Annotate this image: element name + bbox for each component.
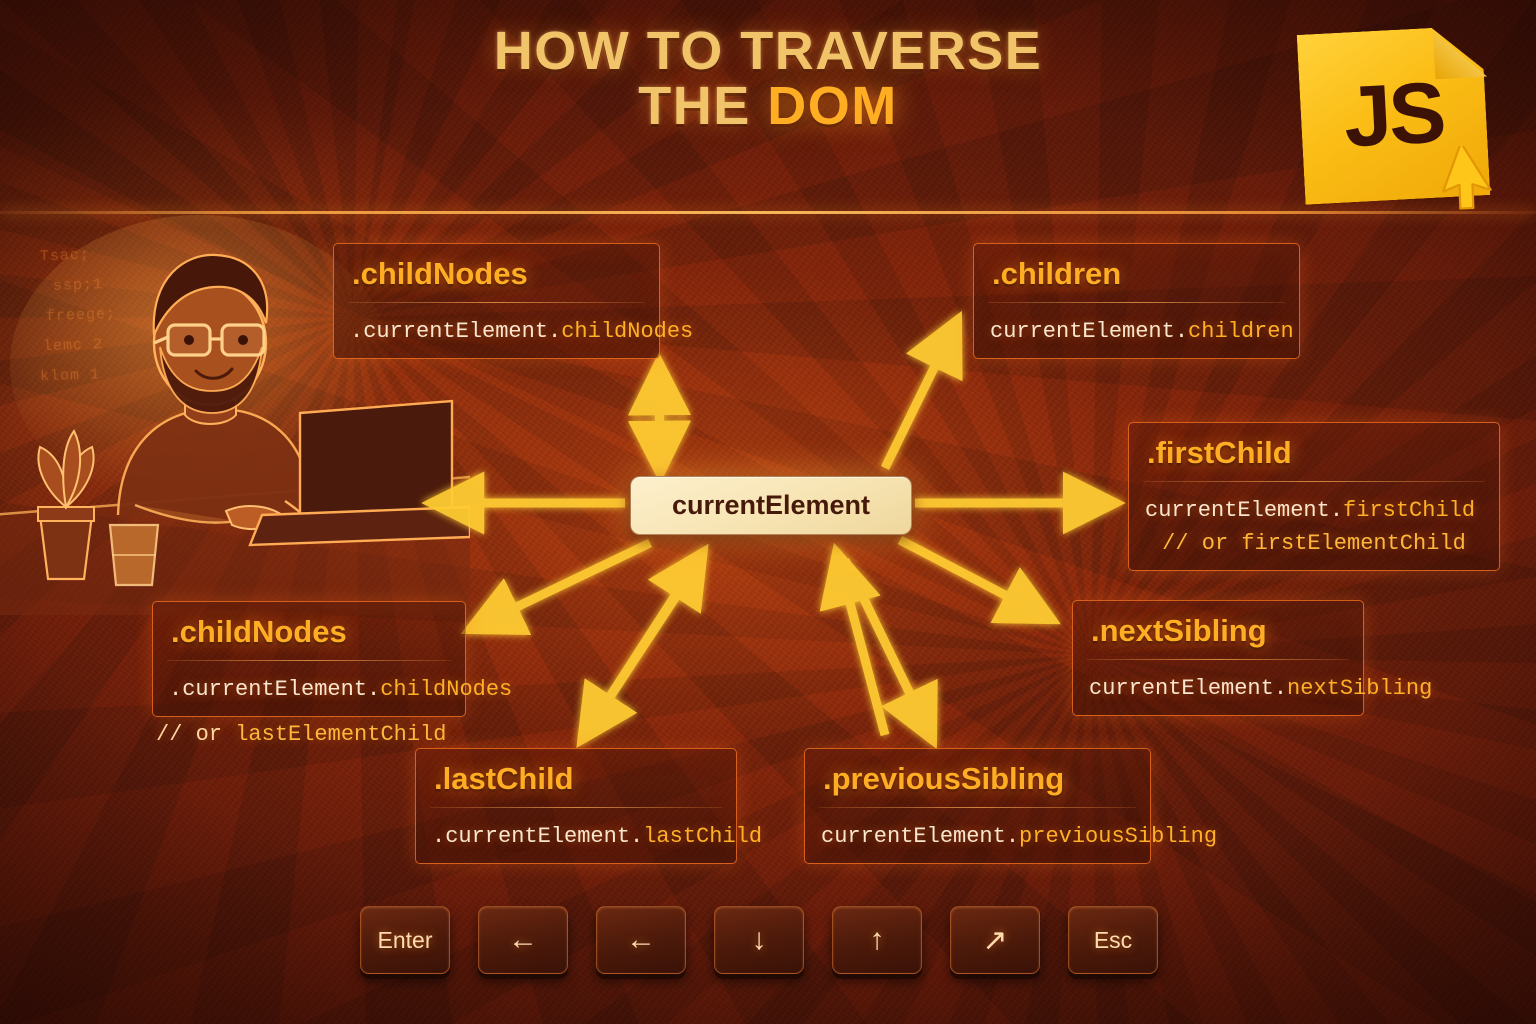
code-prefix: .currentElement. xyxy=(169,677,380,702)
box-title: .childNodes xyxy=(334,244,659,302)
key-arrow-down[interactable]: ↓ xyxy=(714,906,804,974)
info-box-childnodes-bottom: .childNodes .currentElement.childNodes xyxy=(152,601,466,717)
code-property: childNodes xyxy=(380,677,512,702)
arrow-to-children xyxy=(885,325,955,468)
box-code: .currentElement.lastChild xyxy=(416,808,736,863)
box-code: currentElement.firstChild xyxy=(1129,482,1499,531)
info-box-firstchild: .firstChild currentElement.firstChild //… xyxy=(1128,422,1500,571)
box-code: .currentElement.childNodes xyxy=(153,661,465,716)
box-title: .lastChild xyxy=(416,749,736,807)
box-title: .childNodes xyxy=(153,602,465,660)
note-lastelementchild: // or lastElementChild xyxy=(156,722,446,747)
key-arrow-left-2[interactable]: ← xyxy=(596,906,686,974)
info-box-nextsibling: .nextSibling currentElement.nextSibling xyxy=(1072,600,1364,716)
code-prefix: currentElement. xyxy=(990,319,1188,344)
arrow-from-childnodes-top xyxy=(659,370,660,468)
code-property: firstChild xyxy=(1343,498,1475,523)
info-box-childnodes-top: .childNodes .currentElement.childNodes xyxy=(333,243,660,359)
code-prefix: currentElement. xyxy=(1089,676,1287,701)
box-title: .nextSibling xyxy=(1073,601,1363,659)
code-property: childNodes xyxy=(561,319,693,344)
box-title: .firstChild xyxy=(1129,423,1499,481)
info-box-children: .children currentElement.children xyxy=(973,243,1300,359)
code-property: lastChild xyxy=(643,824,762,849)
info-box-previoussibling: .previousSibling currentElement.previous… xyxy=(804,748,1151,864)
code-property: nextSibling xyxy=(1287,676,1432,701)
center-node-currentelement: currentElement xyxy=(630,476,912,535)
infographic-canvas: HOW TO TRAVERSE THE DOM JS xyxy=(0,0,1536,1024)
arrow-to-childnodes-bottom xyxy=(475,543,650,627)
keyboard-keys: Enter ← ← ↓ ↑ ↗ Esc xyxy=(360,906,1160,980)
code-prefix: .currentElement. xyxy=(350,319,561,344)
key-arrow-up[interactable]: ↑ xyxy=(832,906,922,974)
arrow-to-nextsibling xyxy=(900,540,1047,617)
box-code: currentElement.nextSibling xyxy=(1073,660,1363,715)
box-title: .children xyxy=(974,244,1299,302)
arrow-to-lastchild xyxy=(585,560,700,735)
box-code: currentElement.previousSibling xyxy=(805,808,1150,863)
code-prefix: currentElement. xyxy=(1145,498,1343,523)
box-title: .previousSibling xyxy=(805,749,1150,807)
box-code: currentElement.children xyxy=(974,303,1299,358)
code-property: previousSibling xyxy=(1019,824,1217,849)
key-enter[interactable]: Enter xyxy=(360,906,450,974)
box-code-alt: // or firstElementChild xyxy=(1129,531,1499,570)
info-box-lastchild: .lastChild .currentElement.lastChild xyxy=(415,748,737,864)
code-prefix: currentElement. xyxy=(821,824,1019,849)
note-value: lastElementChild xyxy=(235,722,446,747)
code-prefix: .currentElement. xyxy=(432,824,643,849)
box-code: .currentElement.childNodes xyxy=(334,303,659,358)
note-comment-slashes: // or xyxy=(156,722,235,747)
key-esc[interactable]: Esc xyxy=(1068,906,1158,974)
key-arrow-left-1[interactable]: ← xyxy=(478,906,568,974)
key-arrow-up-right[interactable]: ↗ xyxy=(950,906,1040,974)
code-property: children xyxy=(1188,319,1294,344)
